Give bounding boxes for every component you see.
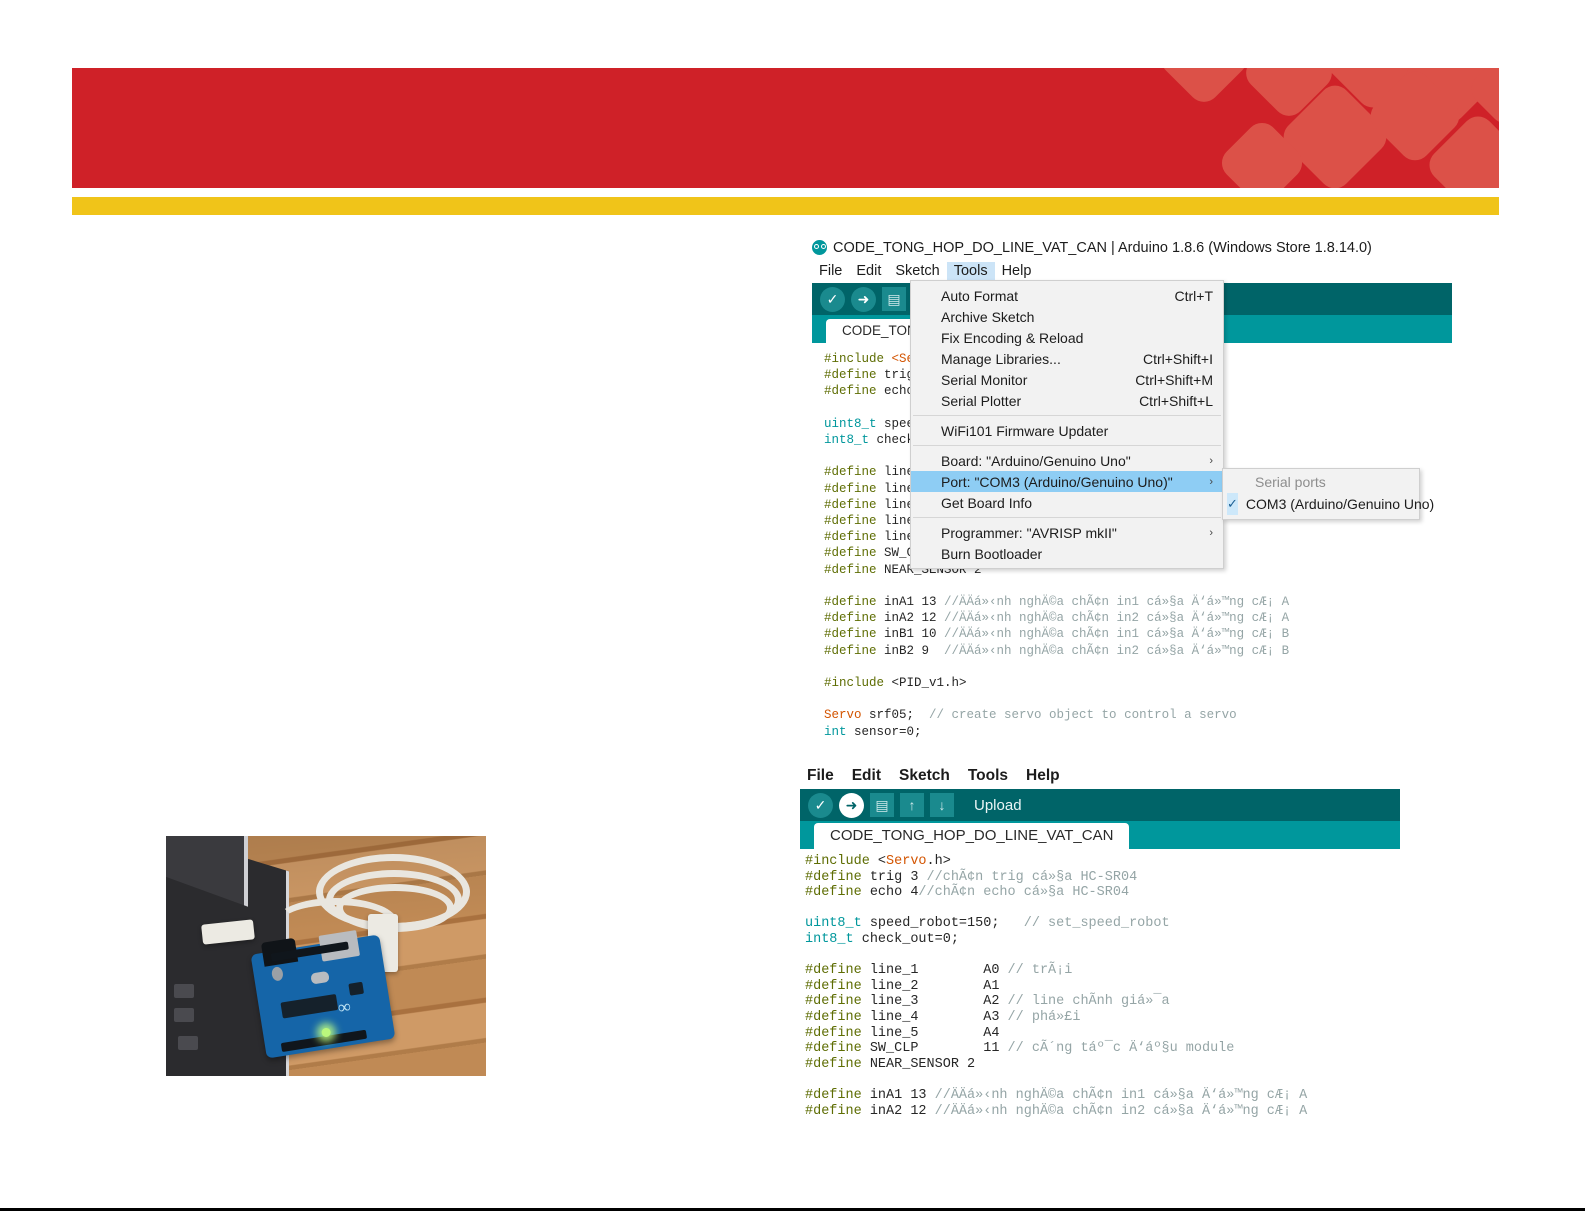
menu-item-label: Programmer: "AVRISP mkII": [941, 525, 1117, 541]
code-line: [824, 691, 1452, 707]
code-token: #include: [824, 676, 892, 690]
code-token: #define: [824, 644, 884, 658]
code-token: // line chÃ­nh giá»¯a: [1008, 994, 1170, 1009]
toolbar-status-label: Upload: [974, 797, 1022, 814]
code-line: int8_t check_out=0;: [805, 932, 1400, 948]
menubar-item-file[interactable]: File: [812, 262, 849, 280]
save-sketch-button[interactable]: ↓: [930, 793, 954, 817]
code-token: speed_robot=150;: [870, 916, 1024, 931]
code-line: #define inA2 12 //ÄÄá»‹nh nghÄ©a chÃ¢n i…: [805, 1104, 1400, 1120]
code-token: inB1 10: [884, 627, 944, 641]
code-token: <PID_v1.h>: [892, 676, 967, 690]
code-line: #include <PID_v1.h>: [824, 675, 1452, 691]
code-token: //ÄÄá»‹nh nghÄ©a chÃ¢n in1 cá»§a Ä‘á»™ng…: [944, 627, 1289, 641]
code-token: sensor=0;: [854, 725, 922, 739]
slide-canvas: ∞ CODE_TONG_HOP_DO_LINE_VAT_CAN | Arduin…: [0, 0, 1585, 1225]
tools-menu-item-get-board-info[interactable]: Get Board Info: [911, 492, 1223, 513]
code-line: [824, 659, 1452, 675]
header-banner: [72, 68, 1499, 188]
code-token: #define: [824, 611, 884, 625]
code-token: int8_t: [805, 932, 862, 947]
code-line: #define inA2 12 //ÄÄá»‹nh nghÄ©a chÃ¢n i…: [824, 610, 1452, 626]
tools-dropdown-menu[interactable]: Auto FormatCtrl+TArchive SketchFix Encod…: [910, 280, 1224, 569]
banner-decorative-pattern: [1079, 68, 1499, 188]
code-token: #include: [824, 352, 892, 366]
code-token: #define: [824, 498, 884, 512]
code-token: #define: [824, 563, 884, 577]
code-token: #define: [824, 546, 884, 560]
code-token: #define: [805, 1104, 870, 1119]
code-line: #define SW_CLP 11 // cÃ´ng táº¯c Ä‘áº§u …: [805, 1041, 1400, 1057]
footer-rule: [0, 1208, 1585, 1211]
tools-menu-item-fix-encoding-reload[interactable]: Fix Encoding & Reload: [911, 327, 1223, 348]
code-token: #define: [805, 885, 870, 900]
code-token: NEAR_SENSOR 2: [870, 1057, 975, 1072]
photo-laptop-key: [174, 984, 194, 998]
new-sketch-button[interactable]: ▤: [870, 793, 894, 817]
code-line: #define line_2 A1: [805, 979, 1400, 995]
chevron-right-icon: ›: [1209, 455, 1213, 467]
menu-item-label: Burn Bootloader: [941, 546, 1042, 562]
menu-item-label: Fix Encoding & Reload: [941, 330, 1083, 346]
code-line: #define NEAR_SENSOR 2: [805, 1057, 1400, 1073]
ide-menubar-bottom: FileEditSketchToolsHelp: [800, 766, 1400, 786]
ide-tabbar-bottom: CODE_TONG_HOP_DO_LINE_VAT_CAN: [800, 821, 1400, 849]
code-token: SW_CLP 11: [870, 1041, 1008, 1056]
photo-board-crystal: [310, 971, 329, 985]
code-token: Servo: [824, 708, 869, 722]
code-token: #define: [805, 1057, 870, 1072]
code-token: .h>: [927, 854, 951, 869]
photo-arduino-board: ∞: [251, 934, 396, 1058]
code-token: check_out=0;: [862, 932, 959, 947]
menu-item-shortcut: Ctrl+Shift+L: [1139, 393, 1213, 409]
code-token: #define: [824, 595, 884, 609]
verify-button[interactable]: ✓: [808, 793, 833, 818]
code-line: int sensor=0;: [824, 724, 1452, 740]
code-token: #define: [824, 530, 884, 544]
photo-board-logo: ∞: [336, 996, 352, 1019]
code-token: //ÄÄá»‹nh nghÄ©a chÃ¢n in2 cá»§a Ä‘á»™ng…: [944, 611, 1289, 625]
code-line: #define trig 3 //chÃ¢n trig cá»§a HC-SR0…: [805, 870, 1400, 886]
code-token: #define: [824, 384, 884, 398]
menu-item-shortcut: Ctrl+Shift+M: [1135, 372, 1213, 388]
menu-item-shortcut: Ctrl+Shift+I: [1143, 351, 1213, 367]
photo-laptop-key: [178, 1036, 198, 1050]
code-token: #define: [824, 514, 884, 528]
code-line: Servo srf05; // create servo object to c…: [824, 707, 1452, 723]
code-line: #define line_4 A3 // phá»£i: [805, 1010, 1400, 1026]
code-token: // phá»£i: [1008, 1010, 1081, 1025]
code-token: inA1 13: [884, 595, 944, 609]
menu-item-label: Port: "COM3 (Arduino/Genuino Uno)": [941, 474, 1173, 490]
code-line: #define inB1 10 //ÄÄá»‹nh nghÄ©a chÃ¢n i…: [824, 626, 1452, 642]
tools-menu-item-archive-sketch[interactable]: Archive Sketch: [911, 306, 1223, 327]
menu-item-label: Serial Plotter: [941, 393, 1021, 409]
tools-menu-item-port-com3-arduino-genuino-uno[interactable]: Port: "COM3 (Arduino/Genuino Uno)"›: [911, 471, 1223, 492]
ide-menubar-top: FileEditSketchToolsHelp: [812, 262, 1452, 280]
upload-button[interactable]: ➜: [851, 287, 876, 312]
ide-window-title-text: CODE_TONG_HOP_DO_LINE_VAT_CAN | Arduino …: [833, 240, 1372, 256]
code-token: trig 3: [870, 870, 927, 885]
code-token: inB2 9: [884, 644, 944, 658]
code-token: // cÃ´ng táº¯c Ä‘áº§u module: [1008, 1041, 1235, 1056]
code-line: [805, 948, 1400, 964]
menubar-item-tools[interactable]: Tools: [947, 262, 995, 280]
menubar-item-tools[interactable]: Tools: [961, 766, 1015, 786]
code-token: #define: [805, 870, 870, 885]
menu-item-label: Board: "Arduino/Genuino Uno": [941, 453, 1131, 469]
code-line: #define echo 4//chÃ¢n echo cá»§a HC-SR04: [805, 885, 1400, 901]
code-line: [805, 901, 1400, 917]
code-token: #define: [824, 482, 884, 496]
arduino-photo: ∞: [166, 836, 486, 1076]
serial-ports-header: Serial ports: [1223, 472, 1419, 492]
menubar-item-sketch[interactable]: Sketch: [888, 262, 946, 280]
code-token: // set_speed_robot: [1024, 916, 1170, 931]
tools-menu-item-burn-bootloader[interactable]: Burn Bootloader: [911, 543, 1223, 564]
tools-menu-item-serial-monitor[interactable]: Serial MonitorCtrl+Shift+M: [911, 369, 1223, 390]
code-token: //chÃ¢n echo cá»§a HC-SR04: [918, 885, 1129, 900]
menubar-item-edit[interactable]: Edit: [849, 262, 888, 280]
code-line: #define inA1 13 //ÄÄá»‹nh nghÄ©a chÃ¢n i…: [824, 594, 1452, 610]
code-token: #define: [805, 994, 870, 1009]
code-token: #define: [805, 1041, 870, 1056]
ide-code-editor-bottom[interactable]: #include <Servo.h>#define trig 3 //chÃ¢n…: [800, 849, 1400, 1119]
code-token: uint8_t: [824, 417, 884, 431]
code-line: #define inB2 9 //ÄÄá»‹nh nghÄ©a chÃ¢n in…: [824, 643, 1452, 659]
menu-item-label: Manage Libraries...: [941, 351, 1061, 367]
ide-toolbar-bottom: ✓ ➜ ▤ ↑ ↓ Upload: [800, 789, 1400, 821]
photo-laptop-key: [174, 1008, 194, 1022]
code-token: <: [878, 854, 886, 869]
menu-item-label: Serial Monitor: [941, 372, 1027, 388]
menu-separator: [913, 445, 1221, 446]
menubar-item-file[interactable]: File: [800, 766, 841, 786]
menubar-item-sketch[interactable]: Sketch: [892, 766, 957, 786]
code-line: #define line_3 A2 // line chÃ­nh giá»¯a: [805, 994, 1400, 1010]
code-token: line_3 A2: [870, 994, 1008, 1009]
code-line: #define line_5 A4: [805, 1026, 1400, 1042]
code-token: // trÃ¡i: [1008, 963, 1073, 978]
code-line: uint8_t speed_robot=150; // set_speed_ro…: [805, 916, 1400, 932]
code-token: inA2 12: [884, 611, 944, 625]
tools-menu-item-auto-format[interactable]: Auto FormatCtrl+T: [911, 285, 1223, 306]
tools-menu-item-manage-libraries[interactable]: Manage Libraries...Ctrl+Shift+I: [911, 348, 1223, 369]
tools-menu-item-serial-plotter[interactable]: Serial PlotterCtrl+Shift+L: [911, 390, 1223, 411]
code-token: line_2 A1: [870, 979, 1000, 994]
code-line: [824, 578, 1452, 594]
code-token: #define: [805, 979, 870, 994]
code-token: Servo: [886, 854, 927, 869]
code-token: inA1 13: [870, 1088, 935, 1103]
code-token: #define: [805, 1026, 870, 1041]
open-sketch-button[interactable]: ↑: [900, 793, 924, 817]
code-token: #define: [805, 1010, 870, 1025]
code-token: int8_t: [824, 433, 877, 447]
chevron-right-icon: ›: [1209, 476, 1213, 488]
code-token: echo 4: [870, 885, 919, 900]
code-token: line_1 A0: [870, 963, 1008, 978]
arduino-ide-window-bottom: FileEditSketchToolsHelp ✓ ➜ ▤ ↑ ↓ Upload…: [800, 766, 1400, 1119]
code-line: #include <Servo.h>: [805, 854, 1400, 870]
code-token: //ÄÄá»‹nh nghÄ©a chÃ¢n in1 cá»§a Ä‘á»™ng…: [935, 1088, 1308, 1103]
new-sketch-button[interactable]: ▤: [882, 287, 906, 311]
photo-board-mcu: [280, 994, 338, 1019]
submenu-item-com3[interactable]: ✓ COM3 (Arduino/Genuino Uno): [1223, 492, 1419, 516]
tools-menu-item-board-arduino-genuino-uno[interactable]: Board: "Arduino/Genuino Uno"›: [911, 450, 1223, 471]
verify-button[interactable]: ✓: [820, 287, 845, 312]
code-line: #define inA1 13 //ÄÄá»‹nh nghÄ©a chÃ¢n i…: [805, 1088, 1400, 1104]
code-token: // create servo object to control a serv…: [929, 708, 1237, 722]
sketch-tab-bottom[interactable]: CODE_TONG_HOP_DO_LINE_VAT_CAN: [814, 823, 1129, 849]
upload-button[interactable]: ➜: [839, 793, 864, 818]
menu-item-label: WiFi101 Firmware Updater: [941, 423, 1108, 439]
code-token: int: [824, 725, 854, 739]
port-submenu[interactable]: Serial ports ✓ COM3 (Arduino/Genuino Uno…: [1222, 468, 1420, 520]
menu-item-shortcut: Ctrl+T: [1175, 288, 1214, 304]
arduino-logo-icon: [812, 240, 827, 255]
menubar-item-help[interactable]: Help: [1019, 766, 1067, 786]
menubar-item-edit[interactable]: Edit: [845, 766, 888, 786]
code-token: #define: [824, 627, 884, 641]
submenu-item-label: COM3 (Arduino/Genuino Uno): [1246, 496, 1434, 512]
code-token: #define: [824, 465, 884, 479]
tools-menu-item-programmer-avrisp-mkii[interactable]: Programmer: "AVRISP mkII"›: [911, 522, 1223, 543]
code-token: //ÄÄá»‹nh nghÄ©a chÃ¢n in2 cá»§a Ä‘á»™ng…: [935, 1104, 1308, 1119]
menubar-item-help[interactable]: Help: [995, 262, 1039, 280]
code-token: uint8_t: [805, 916, 870, 931]
code-token: line_5 A4: [870, 1026, 1000, 1041]
code-token: #include: [805, 854, 878, 869]
photo-board-capacitor: [271, 966, 284, 982]
menu-item-label: Archive Sketch: [941, 309, 1034, 325]
code-token: srf05;: [869, 708, 929, 722]
menu-separator: [913, 415, 1221, 416]
code-token: #define: [824, 368, 884, 382]
accent-bar: [72, 197, 1499, 215]
menu-item-label: Auto Format: [941, 288, 1018, 304]
photo-board-regulator: [348, 982, 364, 996]
code-line: [805, 1072, 1400, 1088]
code-token: //ÄÄá»‹nh nghÄ©a chÃ¢n in2 cá»§a Ä‘á»™ng…: [944, 644, 1289, 658]
tools-menu-item-wifi101-firmware-updater[interactable]: WiFi101 Firmware Updater: [911, 420, 1223, 441]
check-icon: ✓: [1227, 493, 1238, 515]
menu-separator: [913, 517, 1221, 518]
ide-window-title: CODE_TONG_HOP_DO_LINE_VAT_CAN | Arduino …: [812, 240, 1452, 256]
code-token: //chÃ¢n trig cá»§a HC-SR04: [927, 870, 1138, 885]
code-token: //ÄÄá»‹nh nghÄ©a chÃ¢n in1 cá»§a Ä‘á»™ng…: [944, 595, 1289, 609]
code-token: #define: [805, 1088, 870, 1103]
code-token: line_4 A3: [870, 1010, 1008, 1025]
chevron-right-icon: ›: [1209, 527, 1213, 539]
code-token: inA2 12: [870, 1104, 935, 1119]
code-line: #define line_1 A0 // trÃ¡i: [805, 963, 1400, 979]
menu-item-label: Get Board Info: [941, 495, 1032, 511]
code-token: #define: [805, 963, 870, 978]
